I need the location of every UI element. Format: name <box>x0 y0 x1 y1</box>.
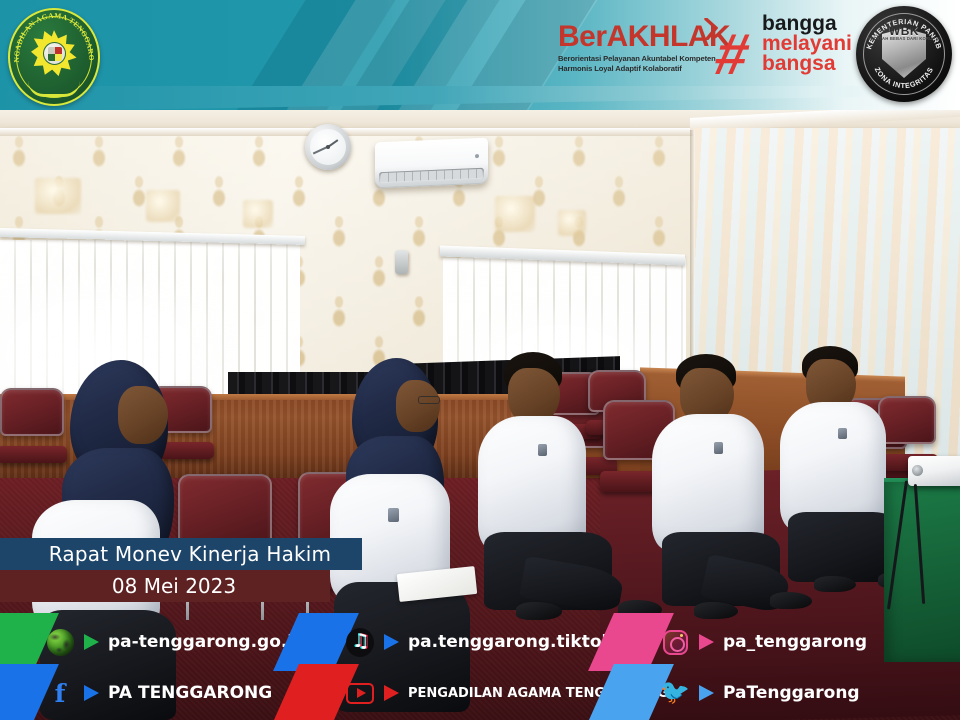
berakhlak-title: BerAKHLAK <box>558 22 728 52</box>
air-conditioner-icon <box>375 138 488 189</box>
wbk-zona-integritas-seal-icon: KEMENTERIAN PANRB ZONA INTEGRITAS ★ ★ ★ … <box>856 6 952 102</box>
facebook-icon: f <box>55 681 66 706</box>
social-icon-slot <box>46 628 74 656</box>
name-badge <box>388 508 399 522</box>
social-link-instagram[interactable]: pa_tenggarong <box>635 619 960 665</box>
branding-header: PENGADILAN AGAMA TENGGARONG BerAKHLAK Be… <box>0 0 960 110</box>
social-link-facebook[interactable]: fPA TENGGARONG <box>20 670 320 716</box>
social-icon-slot: f <box>46 679 74 707</box>
social-handle-label: PaTenggarong <box>723 670 860 716</box>
social-handle-label: pa-tenggarong.go.id <box>108 619 305 665</box>
play-arrow-icon <box>384 634 399 650</box>
social-link-tiktok[interactable]: ♫♫♫pa.tenggarong.tiktok <box>320 619 630 665</box>
name-badge <box>714 442 723 454</box>
pengadilan-agama-seal-icon: PENGADILAN AGAMA TENGGARONG <box>8 8 100 106</box>
wall-switch-icon <box>395 250 408 274</box>
wbk-center-subtext: WILAYAH BEBAS DARI KORUPSI <box>856 36 952 41</box>
social-icon-slot: ♫♫♫ <box>346 628 374 656</box>
tiktok-icon: ♫♫♫ <box>346 628 374 657</box>
play-arrow-icon <box>699 634 714 650</box>
bangga-line2: melayani <box>762 34 852 54</box>
social-handle-label: pa.tenggarong.tiktok <box>408 619 613 665</box>
name-badge <box>538 444 547 456</box>
social-row-1: pa-tenggarong.go.id♫♫♫pa.tenggarong.tikt… <box>0 619 960 667</box>
play-arrow-icon <box>84 634 99 650</box>
social-icon-slot: 🐦 <box>661 679 689 707</box>
youtube-icon <box>346 683 374 704</box>
name-badge <box>838 428 847 439</box>
eyeglasses-icon <box>418 396 440 404</box>
wbk-stars: ★ ★ ★ <box>856 17 952 23</box>
event-title-bar: Rapat Monev Kinerja Hakim <box>0 538 362 570</box>
social-row-2: fPA TENGGARONGPENGADILAN AGAMA TENGGARON… <box>0 670 960 718</box>
social-link-youtube[interactable]: PENGADILAN AGAMA TENGGARONG <box>320 670 630 716</box>
play-arrow-icon <box>384 685 399 701</box>
berakhlak-logo: BerAKHLAK Berorientasi Pelayanan Akuntab… <box>558 22 728 74</box>
bangga-line1: bangga <box>762 14 852 34</box>
social-link-globe[interactable]: pa-tenggarong.go.id <box>20 619 320 665</box>
chevron-arrow-icon <box>704 18 718 40</box>
wall-light-patch <box>495 196 535 232</box>
wall-clock-icon <box>305 124 351 170</box>
empty-chair <box>0 388 64 466</box>
twitter-icon: 🐦 <box>660 681 690 705</box>
social-icon-slot <box>346 679 374 707</box>
social-media-footer: pa-tenggarong.go.id♫♫♫pa.tenggarong.tikt… <box>0 612 960 720</box>
instagram-icon <box>663 630 688 655</box>
social-handle-label: PA TENGGARONG <box>108 670 272 716</box>
wall-light-patch <box>243 200 273 228</box>
social-handle-label: pa_tenggarong <box>723 619 867 665</box>
event-date: 08 Mei 2023 <box>0 574 330 598</box>
wall-light-patch <box>35 178 81 214</box>
wall-light-patch <box>146 190 180 222</box>
wall-light-patch <box>558 210 586 236</box>
event-title: Rapat Monev Kinerja Hakim <box>0 542 362 566</box>
social-link-twitter[interactable]: 🐦PaTenggarong <box>635 670 960 716</box>
event-date-bar: 08 Mei 2023 <box>0 570 330 602</box>
globe-icon <box>47 629 74 656</box>
social-icon-slot <box>661 628 689 656</box>
berakhlak-sub-line2: Harmonis Loyal Adaptif Kolaboratif <box>558 64 728 74</box>
play-arrow-icon <box>699 685 714 701</box>
bangga-line3: bangsa <box>762 54 852 74</box>
berakhlak-sub-line1: Berorientasi Pelayanan Akuntabel Kompete… <box>558 54 728 64</box>
projector-icon <box>908 456 960 486</box>
screenshot-root: PENGADILAN AGAMA TENGGARONG BerAKHLAK Be… <box>0 0 960 720</box>
play-arrow-icon <box>84 685 99 701</box>
